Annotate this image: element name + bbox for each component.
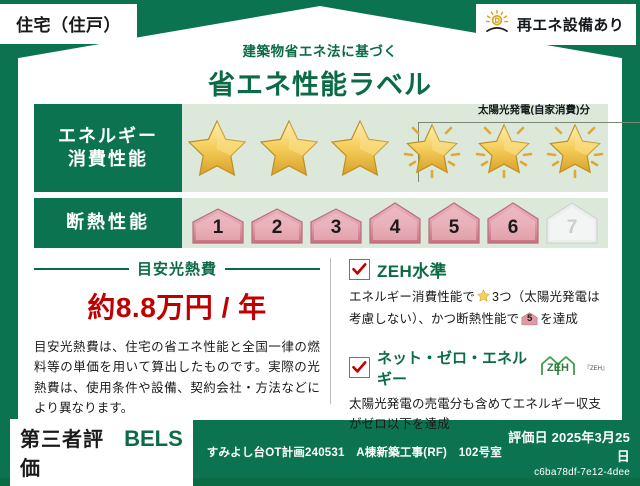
insulation-level-number: 5 [426,217,482,239]
zeh-logo-icon: ZEH [539,353,577,382]
insulation-level-number: 1 [190,217,246,239]
zeh-column: ZEH水準 エネルギー消費性能で3つ（太陽光発電は考慮しない）、かつ断熱性能で5… [331,256,608,406]
label-title-block: 建築物省エネ法に基づく 省エネ性能ラベル [0,40,640,102]
energy-label-line1: エネルギー [58,125,158,148]
utility-cost-heading: 目安光熱費 [137,258,217,279]
insulation-level-1: 1 [190,206,246,244]
zeh-standard-block: ZEH水準 エネルギー消費性能で3つ（太陽光発電は考慮しない）、かつ断熱性能で5… [349,257,608,330]
sun-icon [484,9,510,40]
insulation-performance-row: 断熱性能 1 [34,198,608,248]
insulation-level-number: 7 [544,217,600,239]
insulation-levels-panel: 1 2 3 [182,198,608,248]
energy-performance-row: エネルギー 消費性能 太陽光発電(自家消費)分 [34,104,608,192]
energy-label-line2: 消費性能 [68,148,148,171]
star-icon [182,113,250,183]
insulation-level-number: 4 [367,217,423,239]
utility-cost-value: 約8.8万円 / 年 [34,286,320,326]
insulation-level-2: 2 [249,206,305,244]
bels-en-label: BELS [124,426,183,452]
star-solar-icon [469,113,537,183]
label-card: エネルギー 消費性能 太陽光発電(自家消費)分 [18,96,622,420]
insulation-level-5: 5 [426,200,482,244]
insulation-level-number: 3 [308,217,364,239]
star-icon [325,113,393,183]
insulation-level-6: 6 [485,200,541,244]
star-solar-icon [397,113,465,183]
zeh-standard-heading: ZEH水準 [349,257,608,282]
details-section: 目安光熱費 約8.8万円 / 年 目安光熱費は、住宅の省エネ性能と全国一律の燃料… [34,256,608,406]
evaluation-date: 評価日 2025年3月25日 [502,427,630,465]
insulation-level-number: 6 [485,217,541,239]
net-zero-energy-title: ネット・ゼロ・エネルギー [377,347,529,389]
bels-logo: 第三者評価 BELS [10,419,193,486]
zeh-text-part-a: エネルギー消費性能で [349,290,475,304]
insulation-label: 断熱性能 [66,211,150,234]
utility-cost-heading-row: 目安光熱費 [34,258,320,279]
utility-cost-note: 目安光熱費は、住宅の省エネ性能と全国一律の燃料等の単価を用いて算出したものです。… [34,337,320,418]
energy-stars-panel: 太陽光発電(自家消費)分 [182,104,608,192]
renewable-badge-label: 再エネ設備あり [517,14,624,35]
project-name: すみよし台OT計画240531 A棟新築工事(RF) 102号室 [193,444,502,460]
insulation-level-scale: 1 2 3 [182,198,608,248]
energy-performance-label-box: エネルギー 消費性能 [34,104,182,192]
insulation-level-3: 3 [308,206,364,244]
title-main: 省エネ性能ラベル [0,63,640,102]
evaluation-id: c6ba78df-7e12-4dee [502,467,630,478]
net-zero-energy-block: ネット・ゼロ・エネルギー ZEH 『ZEH』 太陽光発電の売電分も含めてエネルギ… [349,347,608,435]
star-rating [182,104,608,192]
star-solar-icon [540,113,608,183]
checkmark-icon [349,357,370,378]
renewable-equipment-badge: 再エネ設備あり [476,4,636,45]
insulation-performance-label-box: 断熱性能 [34,198,182,248]
zeh-standard-title: ZEH水準 [377,257,447,282]
insulation-level-number: 2 [249,217,305,239]
inline-badge-number: 5 [521,311,538,326]
utility-cost-column: 目安光熱費 約8.8万円 / 年 目安光熱費は、住宅の省エネ性能と全国一律の燃料… [34,256,330,406]
insulation-level-7: 7 [544,200,600,244]
insulation-level-4: 4 [367,200,423,244]
net-zero-energy-heading: ネット・ゼロ・エネルギー ZEH 『ZEH』 [349,347,608,389]
zeh-text-part-c: を達成 [540,312,578,326]
zeh-standard-description: エネルギー消費性能で3つ（太陽光発電は考慮しない）、かつ断熱性能で5を達成 [349,287,608,330]
energy-performance-label: 住宅（住戸） 再エネ設備あり 建築物省エネ法に基づく [0,0,640,478]
bels-jp-label: 第三者評価 [20,423,116,481]
star-icon [254,113,322,183]
heading-rule-left [34,268,129,270]
zeh-logo-trademark: 『ZEH』 [584,363,608,372]
checkmark-icon [349,259,370,280]
heading-rule-right [225,268,320,270]
svg-text:ZEH: ZEH [547,362,569,374]
building-type-chip: 住宅（住戸） [0,4,137,44]
evaluation-info: 評価日 2025年3月25日 c6ba78df-7e12-4dee [502,427,640,478]
inline-star-icon [476,292,491,306]
label-footer: 第三者評価 BELS すみよし台OT計画240531 A棟新築工事(RF) 10… [0,426,640,478]
inline-insulation-badge: 5 [521,311,538,326]
